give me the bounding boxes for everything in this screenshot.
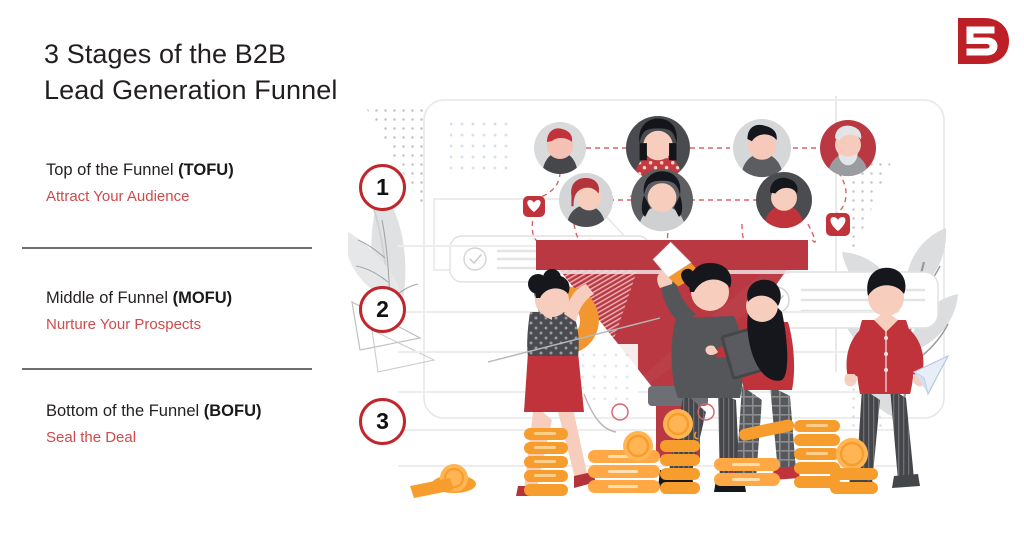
stage-heading-mofu-abbr: (MOFU) (173, 289, 233, 307)
dotted-grid (450, 120, 510, 172)
stage-subtitle-mofu: Nurture Your Prospects (46, 315, 376, 335)
stage-heading-bofu-abbr: (BOFU) (204, 402, 262, 420)
stage-item-bofu: Bottom of the Funnel (BOFU) Seal the Dea… (46, 401, 376, 448)
b2b-lead-generation-funnel-illustration (338, 0, 1024, 534)
stage-badge-2-number: 2 (376, 296, 389, 323)
illustration-canvas (338, 0, 1024, 534)
stage-subtitle-bofu: Seal the Deal (46, 428, 376, 448)
stage-divider-2 (22, 368, 312, 370)
stage-item-tofu: Top of the Funnel (TOFU) Attract Your Au… (46, 160, 376, 207)
stage-heading-bofu: Bottom of the Funnel (BOFU) (46, 401, 376, 422)
stage-heading-tofu-abbr: (TOFU) (178, 161, 234, 179)
stage-heading-tofu: Top of the Funnel (TOFU) (46, 160, 376, 181)
stage-badge-3: 3 (359, 398, 406, 445)
stage-heading-mofu: Middle of Funnel (MOFU) (46, 288, 376, 309)
stage-heading-tofu-plain: Top of the Funnel (46, 161, 178, 179)
stage-badge-1-number: 1 (376, 174, 389, 201)
stage-divider-1 (22, 247, 312, 249)
stage-heading-bofu-plain: Bottom of the Funnel (46, 402, 204, 420)
stage-badge-2: 2 (359, 286, 406, 333)
stage-badge-1: 1 (359, 164, 406, 211)
stage-heading-mofu-plain: Middle of Funnel (46, 289, 173, 307)
stage-badge-3-number: 3 (376, 408, 389, 435)
stage-subtitle-tofu: Attract Your Audience (46, 187, 376, 207)
like-icon (523, 196, 545, 217)
like-icon (826, 213, 850, 236)
stage-item-mofu: Middle of Funnel (MOFU) Nurture Your Pro… (46, 288, 376, 335)
